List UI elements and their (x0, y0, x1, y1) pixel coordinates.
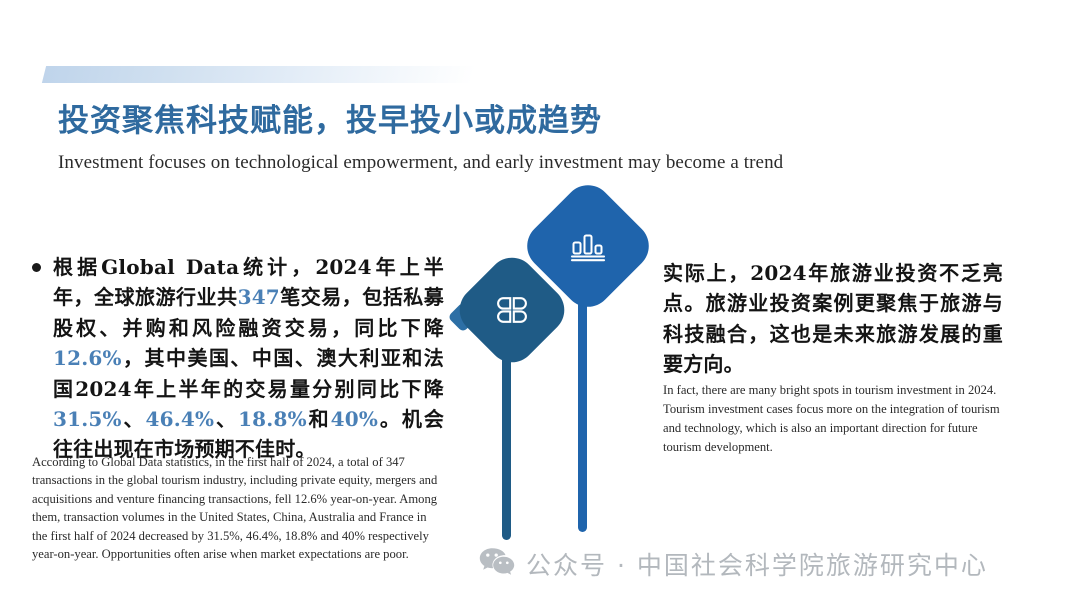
pin-stem (578, 300, 587, 532)
slide-canvas: 投资聚焦科技赋能，投早投小或成趋势 Investment focuses on … (0, 0, 1080, 608)
highlight-figure: 347 (238, 285, 280, 309)
pin-stem (502, 350, 511, 540)
right-paragraph-zh: 实际上，2024年旅游业投资不乏亮点。旅游业投资案例更聚焦于旅游与科技融合，这也… (663, 258, 1003, 380)
left-paragraph-en: According to Global Data statistics, in … (32, 453, 442, 563)
page-subtitle-en: Investment focuses on technological empo… (58, 152, 783, 174)
bullet-dot-icon (32, 263, 41, 272)
left-content-block: 根据Global Data统计，2024年上半年，全球旅游行业共347笔交易，包… (32, 252, 444, 465)
highlight-figure: 31.5% (53, 407, 122, 431)
paragraph-run: 、 (214, 407, 238, 431)
page-title-zh: 投资聚焦科技赋能，投早投小或成趋势 (58, 104, 602, 140)
map-pin-bar-chart (520, 190, 650, 550)
bar-chart-icon (538, 196, 638, 296)
paragraph-run: 、 (122, 407, 146, 431)
gradient-accent-bar (42, 66, 476, 83)
watermark-text: 公众号 · 中国社会科学院旅游研究中心 (526, 546, 988, 582)
bullet-row: 根据Global Data统计，2024年上半年，全球旅游行业共347笔交易，包… (32, 252, 444, 465)
wechat-icon (479, 547, 515, 582)
highlight-figure: 12.6% (53, 346, 122, 370)
right-paragraph-en: In fact, there are many bright spots in … (663, 381, 1008, 458)
watermark: 公众号 · 中国社会科学院旅游研究中心 (479, 546, 988, 582)
left-paragraph-zh: 根据Global Data统计，2024年上半年，全球旅游行业共347笔交易，包… (53, 252, 444, 465)
highlight-figure: 40% (331, 407, 378, 431)
paragraph-run: 和 (307, 407, 331, 431)
highlight-figure: 18.8% (238, 407, 307, 431)
highlight-figure: 46.4% (146, 407, 215, 431)
